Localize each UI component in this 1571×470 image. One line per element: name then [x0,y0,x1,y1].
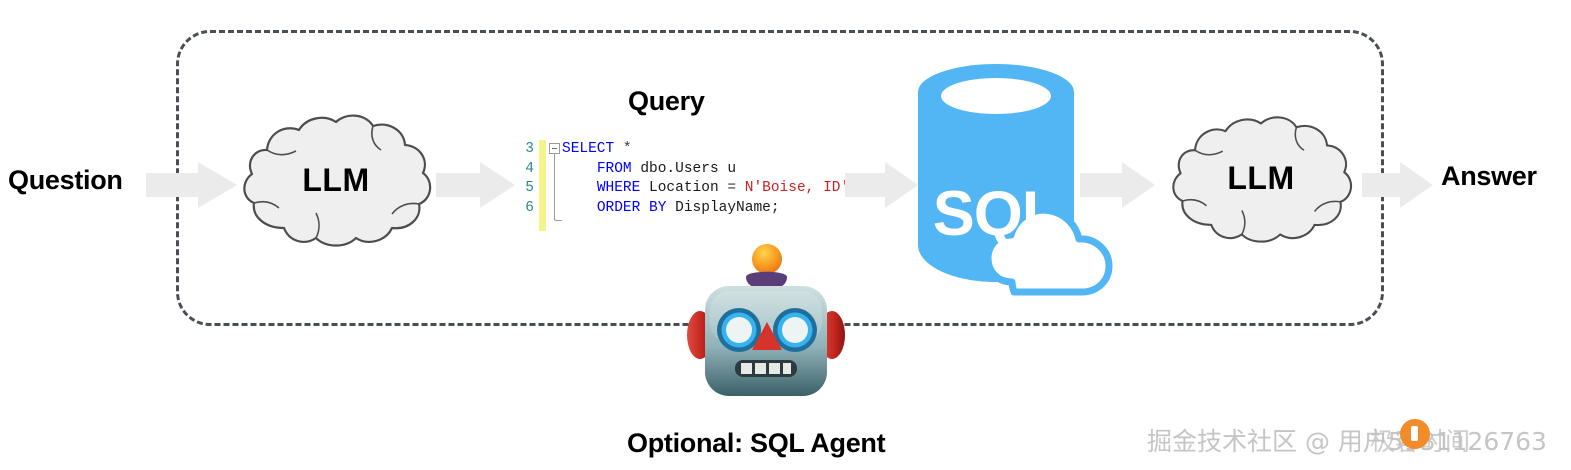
code-collapse-icon[interactable] [549,143,560,154]
sql-code-block: 3456 SELECT * FROM dbo.Users u WHERE Loc… [518,140,848,232]
code-change-bar [539,140,546,231]
arrow-llm-to-query [436,162,516,208]
code-lines: SELECT * FROM dbo.Users u WHERE Location… [562,140,849,218]
llm-label-second: LLM [1168,160,1354,197]
juejin-badge-icon [1400,419,1430,449]
arrow-llm-to-answer [1362,162,1434,208]
answer-label: Answer [1441,161,1537,192]
sql-database-label: SQL [902,178,1090,250]
question-label: Question [8,165,123,196]
code-line-number: 3 [518,140,534,160]
code-line: WHERE Location = N'Boise, ID' [562,179,849,199]
watermark-text: 掘金技术社区 @ 用户5931126763 [1147,422,1547,458]
agent-caption: Optional: SQL Agent [627,428,885,459]
code-line-number: 4 [518,160,534,180]
llm-node-first: LLM [240,110,432,248]
llm-node-second: LLM [1168,112,1354,244]
code-fold-bracket [554,152,562,221]
code-line-number: 5 [518,179,534,199]
code-line: ORDER BY DisplayName; [562,199,849,219]
arrow-question-to-llm [146,162,238,208]
code-line: FROM dbo.Users u [562,160,849,180]
code-gutter: 3456 [518,140,534,232]
code-line-number: 6 [518,199,534,219]
query-title: Query [628,86,705,117]
code-line: SELECT * [562,140,849,160]
diagram-canvas: Question LLM Query 3456 SELECT * FROM db… [0,0,1571,470]
robot-icon [683,242,849,408]
llm-label-first: LLM [240,162,432,199]
arrow-sql-to-llm [1080,162,1156,208]
